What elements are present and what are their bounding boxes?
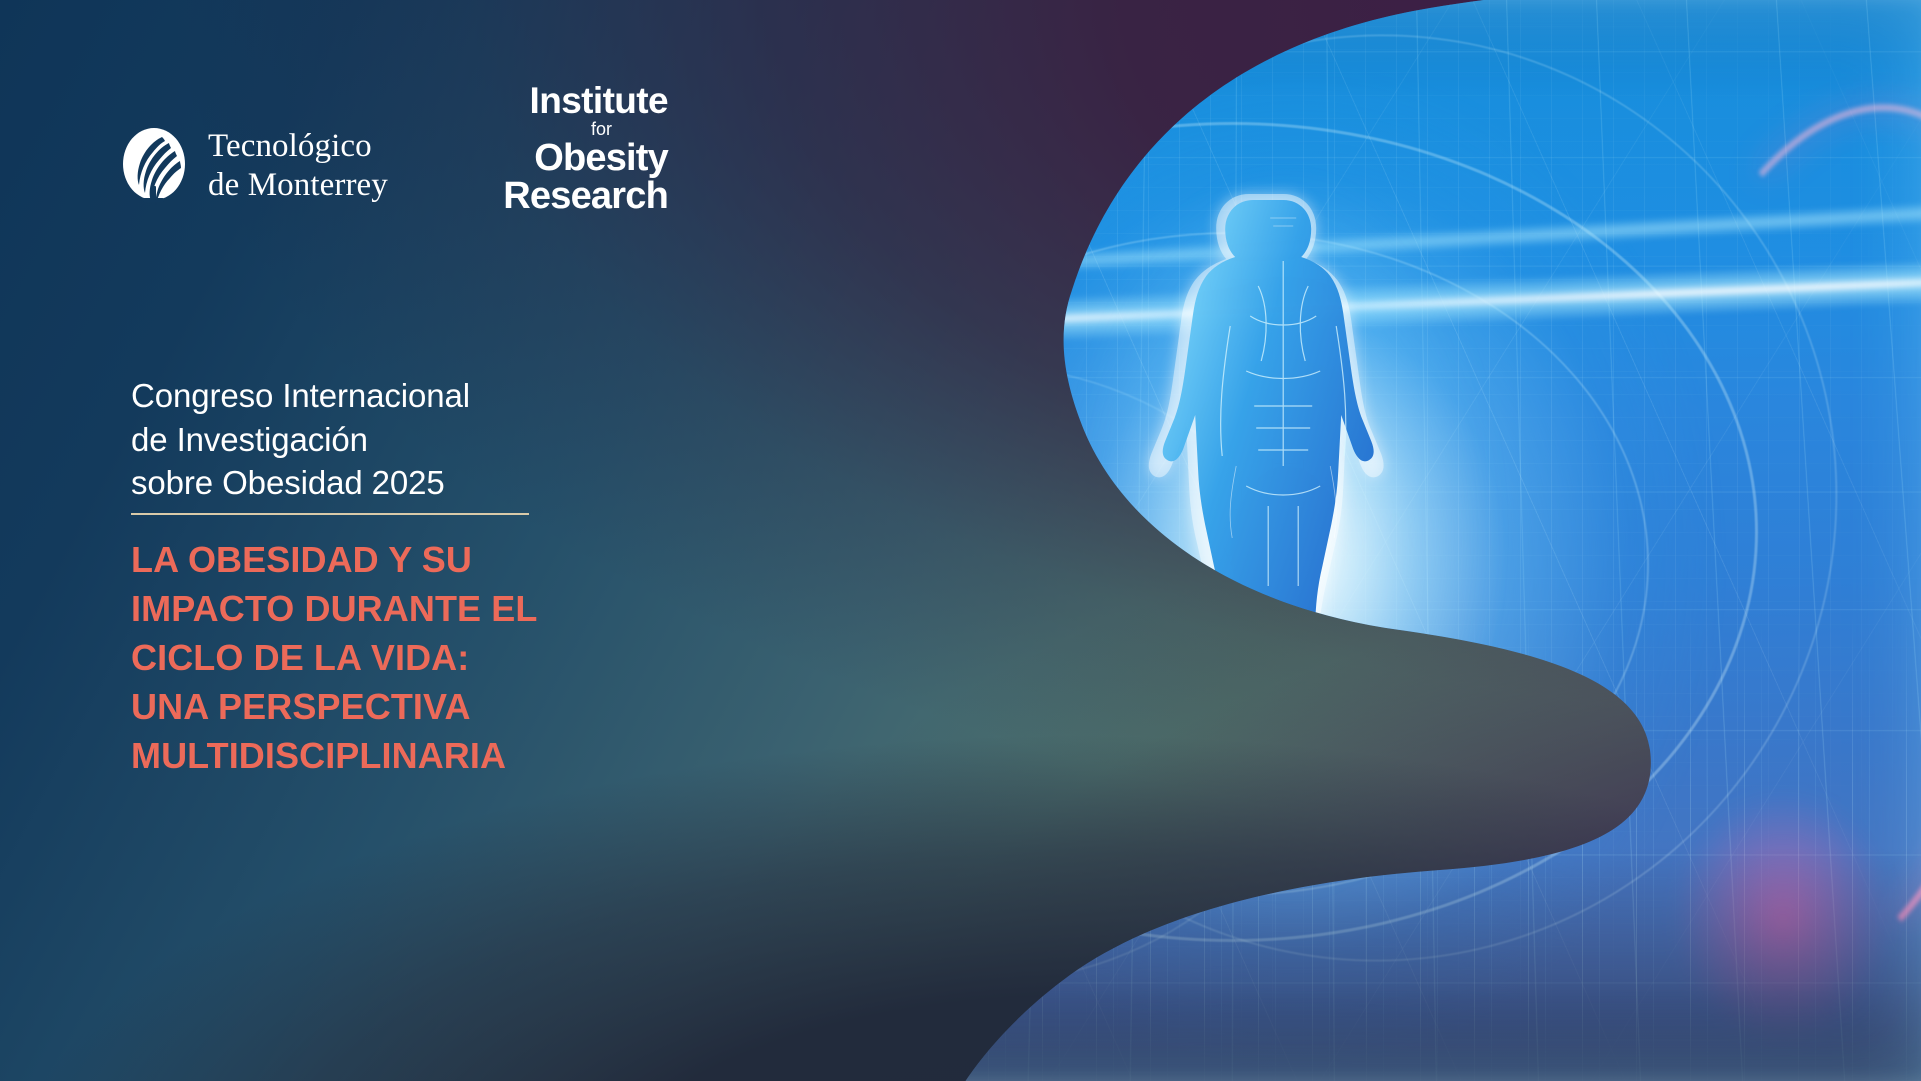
left-content-column: Tecnológico de Monterrey Institute for O…: [0, 0, 640, 1081]
title-divider: [131, 513, 529, 515]
tec-de-monterrey-logo: Tecnológico de Monterrey: [120, 126, 388, 206]
congress-name: Congreso Internacional de Investigación …: [131, 374, 470, 505]
tec-wordmark: Tecnológico de Monterrey: [208, 127, 388, 205]
poster-headline: LA OBESIDAD Y SU IMPACTO DURANTE EL CICL…: [131, 536, 537, 781]
ior-line-institute: Institute: [478, 82, 668, 119]
event-poster: Tecnológico de Monterrey Institute for O…: [0, 0, 1921, 1081]
ior-line-research: Research: [478, 177, 668, 216]
ior-line-obesity: Obesity: [478, 139, 668, 178]
tec-flame-emblem-icon: [120, 126, 188, 206]
institute-for-obesity-research-logo: Institute for Obesity Research: [478, 82, 668, 216]
